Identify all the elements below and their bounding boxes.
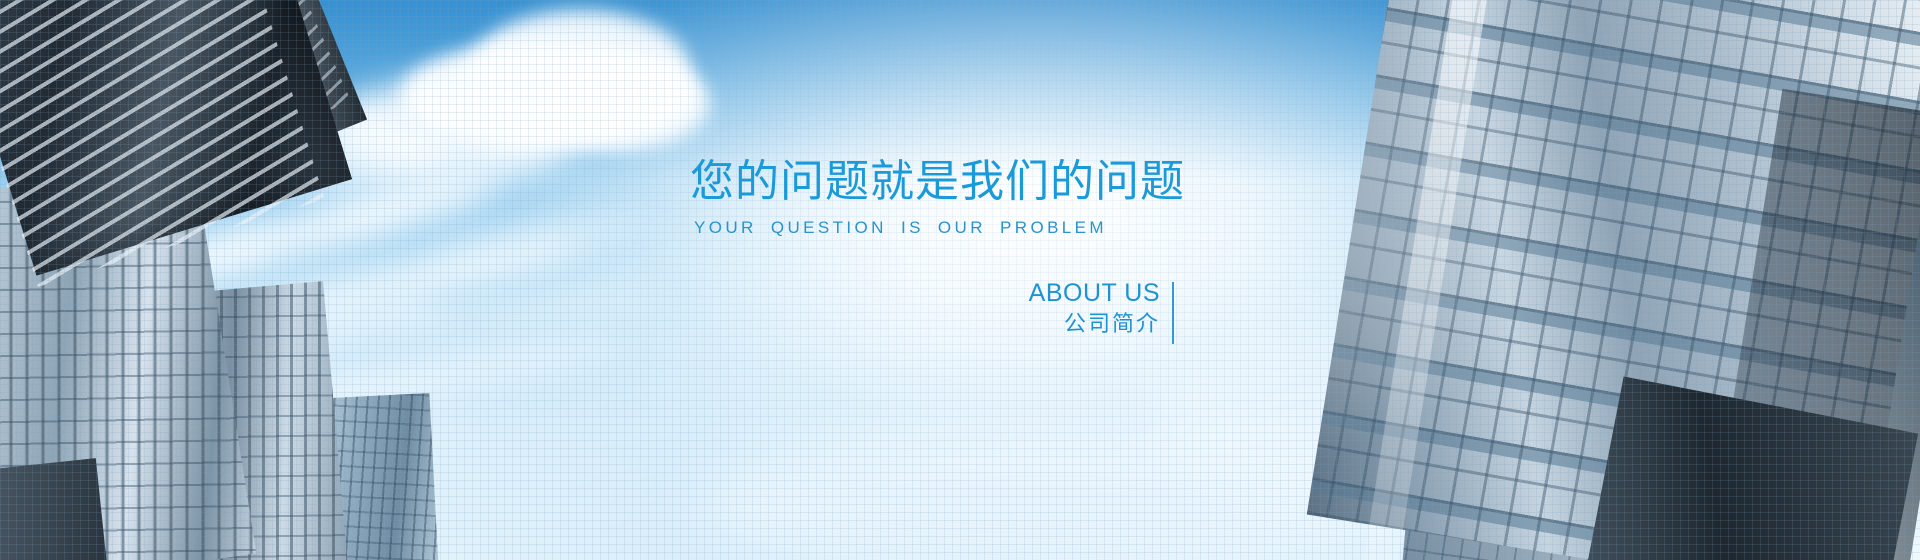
banner-subheadline: YOUR QUESTION IS OUR PROBLEM [694,218,1170,238]
building-left-sliver [0,458,109,560]
banner-tagline-block: ABOUT US 公司简介 [690,278,1174,339]
banner-headline: 您的问题就是我们的问题 [690,160,1170,204]
tagline-english: ABOUT US [690,278,1160,309]
banner-copy: 您的问题就是我们的问题 YOUR QUESTION IS OUR PROBLEM… [690,160,1170,339]
tagline-chinese: 公司简介 [690,309,1160,339]
tagline-vertical-rule [1172,282,1174,344]
about-us-banner: 您的问题就是我们的问题 YOUR QUESTION IS OUR PROBLEM… [0,0,1920,560]
cloud [540,60,710,150]
